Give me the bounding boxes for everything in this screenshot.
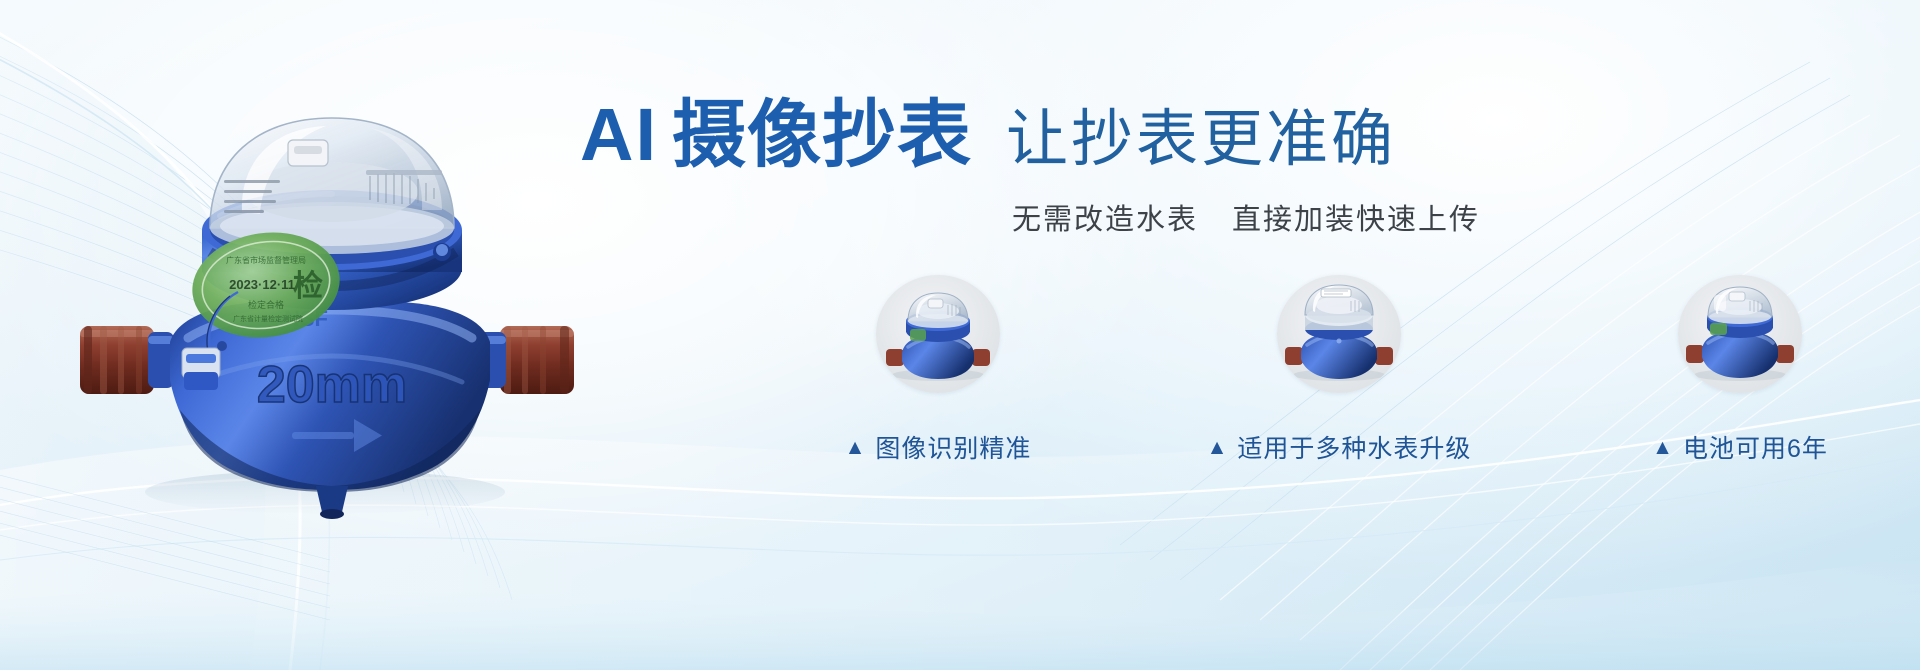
copy-block: AI摄像抄表 让抄表更准确 无需改造水表直接加装快速上传 [580, 96, 1880, 238]
triangle-marker-icon: ▲ [845, 437, 867, 458]
subheadline-part1: 无需改造水表 [1012, 204, 1198, 236]
headline-primary-cn: 摄像抄表 [672, 93, 972, 176]
sticker-seal-char: 检 [293, 269, 323, 303]
headline: AI摄像抄表 让抄表更准确 [580, 96, 1880, 174]
water-meter-illustration: 20mm NSF [70, 80, 590, 520]
feature-item: ▲ 图像识别精准 [788, 275, 1088, 465]
headline-secondary: 让抄表更准确 [1006, 107, 1396, 173]
pipe-left-connector [80, 326, 174, 394]
feature-label: 电池可用6年 [1683, 429, 1828, 465]
feature-item: ▲ 电池可用6年 [1590, 275, 1890, 465]
feature-label: 适用于多种水表升级 [1237, 429, 1471, 465]
feature-caption: ▲ 图像识别精准 [845, 429, 1032, 465]
water-meter-thumb-upgrade [1277, 275, 1401, 393]
pipe-right-connector [478, 326, 574, 394]
water-meter-thumb-recognition [876, 275, 1000, 393]
feature-list: ▲ 图像识别精准 [760, 275, 1890, 465]
sticker-line-footer: 广东省计量检定测试院 [233, 314, 303, 323]
meter-transparent-dome [210, 118, 454, 254]
feature-caption: ▲ 电池可用6年 [1652, 429, 1828, 465]
feature-caption: ▲ 适用于多种水表升级 [1207, 429, 1472, 465]
headline-ai-word: AI [580, 93, 658, 176]
triangle-marker-icon: ▲ [1652, 437, 1674, 458]
subheadline: 无需改造水表直接加装快速上传 [580, 196, 1880, 238]
sticker-line-mid: 2023·12·11 [229, 277, 295, 292]
hero-product-image: 20mm NSF [70, 80, 590, 520]
meter-size-marking: 20mm [257, 356, 407, 414]
feature-label: 图像识别精准 [875, 429, 1031, 465]
sticker-line-bottom: 检定合格 [248, 299, 284, 310]
subheadline-part2: 直接加装快速上传 [1232, 204, 1480, 236]
triangle-marker-icon: ▲ [1207, 437, 1229, 458]
sticker-line-top: 广东省市场监督管理局 [226, 255, 306, 265]
promo-banner: 20mm NSF [0, 0, 1920, 670]
water-meter-thumb-battery [1678, 275, 1802, 393]
feature-item: ▲ 适用于多种水表升级 [1189, 275, 1489, 465]
headline-primary: AI摄像抄表 [580, 96, 972, 174]
